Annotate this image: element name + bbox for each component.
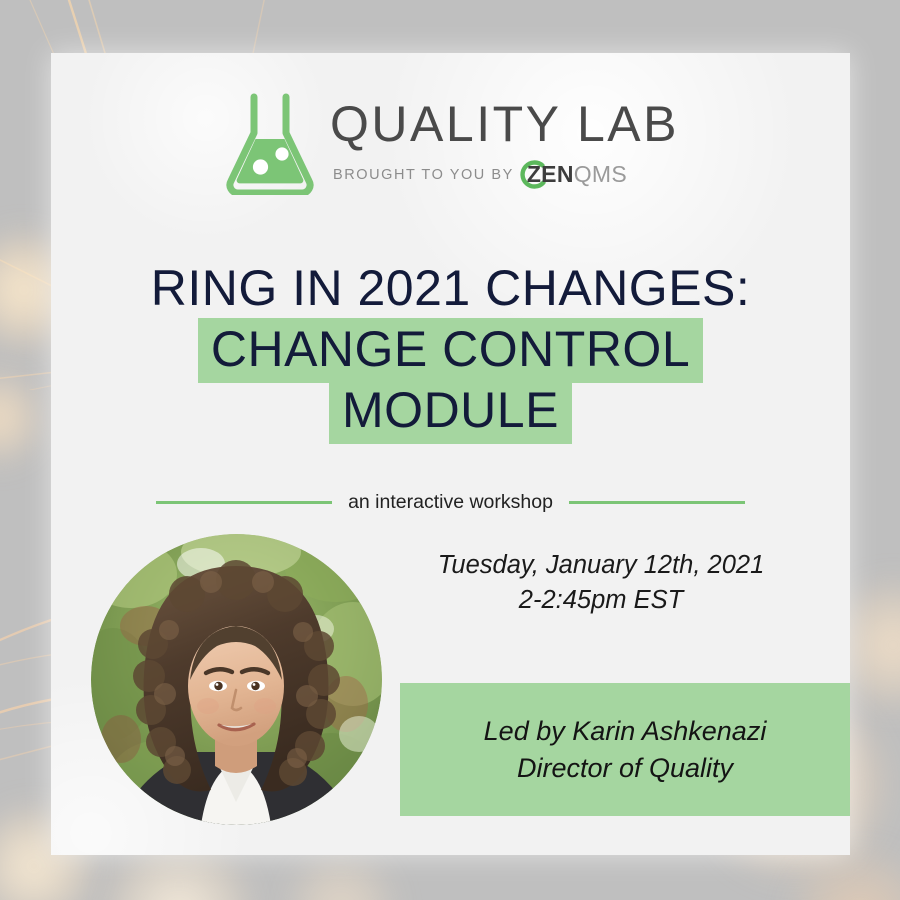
subtitle-text: an interactive workshop — [348, 491, 553, 514]
headline-line-3-text: MODULE — [329, 379, 572, 444]
tagline-row: BROUGHT TO YOU BY ZENQMS — [330, 160, 679, 190]
event-time: 2-2:45pm EST — [381, 583, 821, 618]
speaker-name: Led by Karin Ashkenazi — [484, 713, 767, 749]
bokeh-light — [0, 372, 44, 464]
zenqms-bold-text: ZEN — [527, 163, 574, 186]
headline-line-2: CHANGE CONTROL — [51, 319, 850, 380]
event-datetime: Tuesday, January 12th, 2021 2-2:45pm EST — [381, 548, 821, 618]
webinar-promo-poster: QUALITY LAB BROUGHT TO YOU BY ZENQMS — [0, 0, 900, 900]
headline-line-3: MODULE — [51, 380, 850, 441]
flask-icon — [222, 89, 318, 195]
avatar — [91, 534, 382, 825]
zenqms-logo: ZENQMS — [521, 160, 627, 190]
quality-lab-logo: QUALITY LAB BROUGHT TO YOU BY ZENQMS — [51, 89, 850, 195]
poster-card: QUALITY LAB BROUGHT TO YOU BY ZENQMS — [51, 53, 850, 855]
divider-rule-right — [569, 501, 745, 504]
event-date: Tuesday, January 12th, 2021 — [381, 548, 821, 583]
headline-line-1-text: RING IN 2021 CHANGES: — [151, 260, 751, 316]
page-title: RING IN 2021 CHANGES: CHANGE CONTROL MOD… — [51, 258, 850, 441]
brand-title: QUALITY LAB — [330, 99, 679, 149]
bokeh-light — [790, 848, 900, 900]
speaker-band: Led by Karin Ashkenazi Director of Quali… — [400, 683, 850, 816]
tagline-text: BROUGHT TO YOU BY — [333, 167, 514, 183]
headline-line-1: RING IN 2021 CHANGES: — [51, 258, 850, 319]
divider-rule-left — [156, 501, 332, 504]
speaker-title: Director of Quality — [517, 750, 733, 786]
bokeh-light — [286, 852, 396, 900]
speaker-headshot — [91, 534, 382, 825]
headline-line-2-text: CHANGE CONTROL — [198, 318, 703, 383]
zenqms-light-text: QMS — [574, 163, 627, 186]
subtitle-divider: an interactive workshop — [51, 491, 850, 514]
